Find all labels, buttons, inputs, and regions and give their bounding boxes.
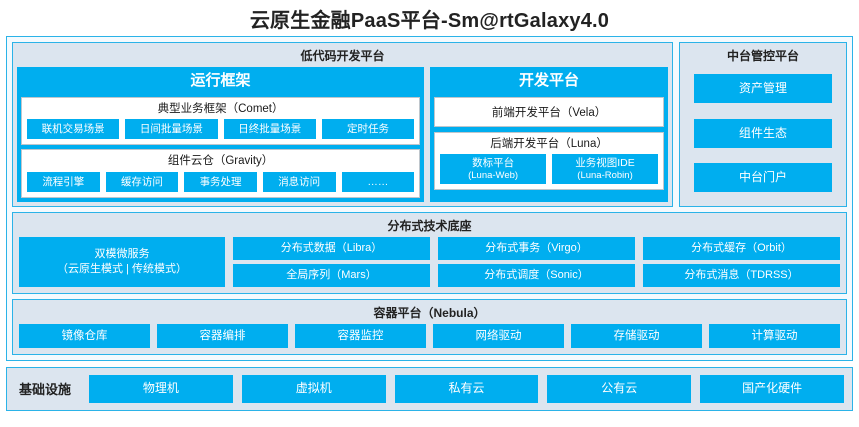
distributed-message-tdrss[interactable]: 分布式消息（TDRSS） bbox=[643, 264, 840, 287]
luna-robin-code: (Luna-Robin) bbox=[554, 170, 656, 181]
infrastructure-item-private-cloud[interactable]: 私有云 bbox=[395, 375, 539, 402]
gravity-item[interactable]: 事务处理 bbox=[184, 172, 257, 192]
distributed-base-panel: 分布式技术底座 双模微服务 （云原生模式 | 传统模式） 分布式数据（Libra… bbox=[12, 212, 847, 293]
comet-item[interactable]: 日终批量场景 bbox=[224, 119, 316, 139]
lowcode-platform-title: 低代码开发平台 bbox=[17, 47, 668, 67]
infrastructure-item-virtual-machine[interactable]: 虚拟机 bbox=[242, 375, 386, 402]
container-item-compute-driver[interactable]: 计算驱动 bbox=[709, 324, 840, 349]
page-title-bar: 云原生金融PaaS平台-Sm@rtGalaxy4.0 bbox=[0, 0, 859, 36]
dual-mode-microservice[interactable]: 双模微服务 （云原生模式 | 传统模式） bbox=[19, 237, 225, 286]
distributed-data-libra[interactable]: 分布式数据（Libra） bbox=[233, 237, 430, 260]
distributed-column-data: 分布式数据（Libra） 全局序列（Mars） bbox=[233, 237, 430, 286]
gravity-item-more[interactable]: …… bbox=[342, 172, 415, 192]
backend-platform-luna-title: 后端开发平台（Luna） bbox=[440, 137, 658, 155]
infrastructure-items: 物理机 虚拟机 私有云 公有云 国产化硬件 bbox=[89, 375, 844, 402]
frontend-platform-vela[interactable]: 前端开发平台（Vela） bbox=[434, 97, 664, 127]
luna-web-name: 数标平台 bbox=[472, 157, 514, 169]
runtime-framework-title: 运行框架 bbox=[21, 71, 420, 93]
distributed-column-cache: 分布式缓存（Orbit） 分布式消息（TDRSS） bbox=[643, 237, 840, 286]
container-item-monitoring[interactable]: 容器监控 bbox=[295, 324, 426, 349]
gravity-item[interactable]: 流程引擎 bbox=[27, 172, 100, 192]
backend-platform-luna-card: 后端开发平台（Luna） 数标平台 (Luna-Web) 业务视图IDE (Lu… bbox=[434, 132, 664, 191]
infrastructure-bar: 基础设施 物理机 虚拟机 私有云 公有云 国产化硬件 bbox=[6, 367, 853, 410]
distributed-cache-orbit[interactable]: 分布式缓存（Orbit） bbox=[643, 237, 840, 260]
gravity-item[interactable]: 消息访问 bbox=[263, 172, 336, 192]
control-item-asset-management[interactable]: 资产管理 bbox=[694, 74, 832, 103]
control-platform-title: 中台管控平台 bbox=[684, 47, 842, 67]
gravity-chip-row: 流程引擎 缓存访问 事务处理 消息访问 …… bbox=[27, 172, 414, 192]
distributed-column-transaction: 分布式事务（Virgo） 分布式调度（Sonic） bbox=[438, 237, 635, 286]
global-sequence-mars[interactable]: 全局序列（Mars） bbox=[233, 264, 430, 287]
runtime-framework-block: 运行框架 典型业务框架（Comet） 联机交易场景 日间批量场景 日终批量场景 … bbox=[17, 67, 424, 202]
container-platform-title: 容器平台（Nebula） bbox=[17, 304, 842, 324]
control-item-portal[interactable]: 中台门户 bbox=[694, 163, 832, 192]
control-platform-items: 资产管理 组件生态 中台门户 bbox=[684, 67, 842, 202]
luna-chip-row: 数标平台 (Luna-Web) 业务视图IDE (Luna-Robin) bbox=[440, 154, 658, 184]
container-item-network-driver[interactable]: 网络驱动 bbox=[433, 324, 564, 349]
dual-mode-line2: （云原生模式 | 传统模式） bbox=[23, 262, 221, 277]
lowcode-platform-body: 运行框架 典型业务框架（Comet） 联机交易场景 日间批量场景 日终批量场景 … bbox=[17, 67, 668, 202]
distributed-base-title: 分布式技术底座 bbox=[17, 217, 842, 237]
distributed-base-body: 双模微服务 （云原生模式 | 传统模式） 分布式数据（Libra） 全局序列（M… bbox=[17, 237, 842, 288]
distributed-transaction-virgo[interactable]: 分布式事务（Virgo） bbox=[438, 237, 635, 260]
development-platform-stack: 前端开发平台（Vela） 后端开发平台（Luna） 数标平台 (Luna-Web… bbox=[434, 97, 664, 191]
architecture-diagram: 云原生金融PaaS平台-Sm@rtGalaxy4.0 低代码开发平台 运行框架 … bbox=[0, 0, 859, 427]
luna-web-item[interactable]: 数标平台 (Luna-Web) bbox=[440, 154, 546, 184]
container-item-storage-driver[interactable]: 存储驱动 bbox=[571, 324, 702, 349]
platform-stack: 低代码开发平台 运行框架 典型业务框架（Comet） 联机交易场景 日间批量场景… bbox=[6, 36, 853, 361]
container-item-image-registry[interactable]: 镜像仓库 bbox=[19, 324, 150, 349]
development-platform-title: 开发平台 bbox=[434, 71, 664, 93]
comet-item[interactable]: 联机交易场景 bbox=[27, 119, 119, 139]
infrastructure-item-domestic-hardware[interactable]: 国产化硬件 bbox=[700, 375, 844, 402]
gravity-card: 组件云仓（Gravity） 流程引擎 缓存访问 事务处理 消息访问 …… bbox=[21, 149, 420, 198]
gravity-item[interactable]: 缓存访问 bbox=[106, 172, 179, 192]
gravity-title: 组件云仓（Gravity） bbox=[27, 154, 414, 172]
luna-web-code: (Luna-Web) bbox=[442, 170, 544, 181]
control-item-component-ecosystem[interactable]: 组件生态 bbox=[694, 119, 832, 148]
comet-item[interactable]: 定时任务 bbox=[322, 119, 414, 139]
page-title: 云原生金融PaaS平台-Sm@rtGalaxy4.0 bbox=[250, 4, 609, 33]
container-item-orchestration[interactable]: 容器编排 bbox=[157, 324, 288, 349]
container-platform-panel: 容器平台（Nebula） 镜像仓库 容器编排 容器监控 网络驱动 存储驱动 计算… bbox=[12, 299, 847, 356]
lowcode-platform-panel: 低代码开发平台 运行框架 典型业务框架（Comet） 联机交易场景 日间批量场景… bbox=[12, 42, 673, 207]
infrastructure-item-physical-machine[interactable]: 物理机 bbox=[89, 375, 233, 402]
development-platform-block: 开发平台 前端开发平台（Vela） 后端开发平台（Luna） 数标平台 (Lun… bbox=[430, 67, 668, 202]
comet-title: 典型业务框架（Comet） bbox=[27, 102, 414, 120]
dual-mode-microservice-wrapper: 双模微服务 （云原生模式 | 传统模式） bbox=[19, 237, 225, 286]
comet-card: 典型业务框架（Comet） 联机交易场景 日间批量场景 日终批量场景 定时任务 bbox=[21, 97, 420, 146]
luna-robin-item[interactable]: 业务视图IDE (Luna-Robin) bbox=[552, 154, 658, 184]
control-platform-panel: 中台管控平台 资产管理 组件生态 中台门户 bbox=[679, 42, 847, 207]
distributed-schedule-sonic[interactable]: 分布式调度（Sonic） bbox=[438, 264, 635, 287]
comet-item[interactable]: 日间批量场景 bbox=[125, 119, 217, 139]
infrastructure-item-public-cloud[interactable]: 公有云 bbox=[547, 375, 691, 402]
infrastructure-label: 基础设施 bbox=[15, 379, 81, 398]
luna-robin-name: 业务视图IDE bbox=[575, 157, 635, 169]
container-platform-body: 镜像仓库 容器编排 容器监控 网络驱动 存储驱动 计算驱动 bbox=[17, 324, 842, 351]
dual-mode-line1: 双模微服务 bbox=[23, 247, 221, 262]
comet-chip-row: 联机交易场景 日间批量场景 日终批量场景 定时任务 bbox=[27, 119, 414, 139]
top-row: 低代码开发平台 运行框架 典型业务框架（Comet） 联机交易场景 日间批量场景… bbox=[12, 42, 847, 207]
